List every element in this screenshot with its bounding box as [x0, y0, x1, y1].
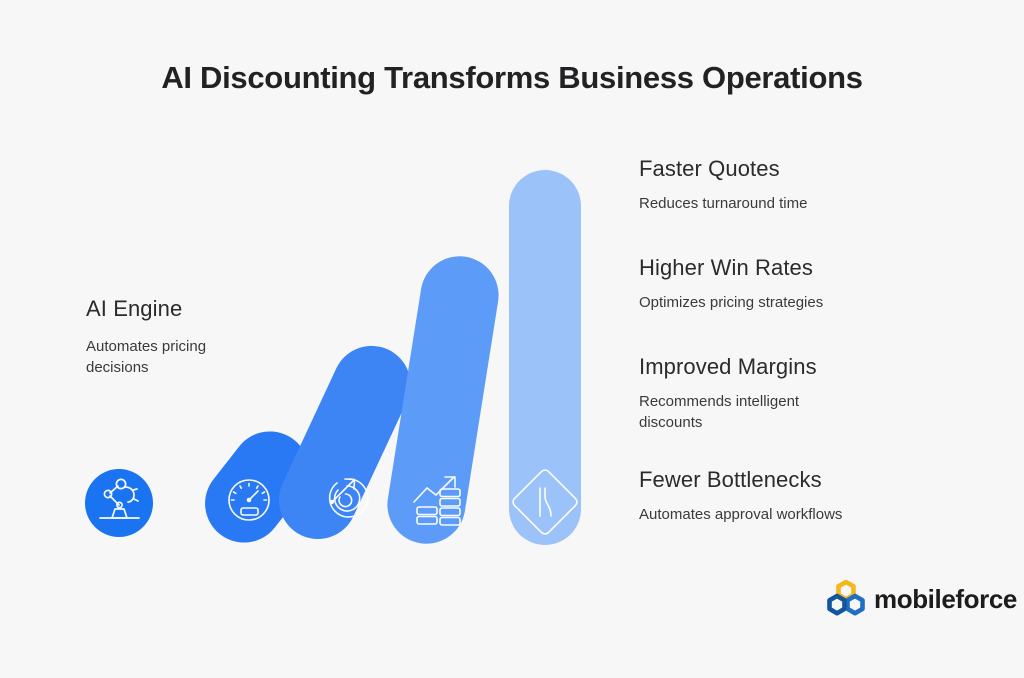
- label-group-ai-engine: AI Engine Automates pricing decisions: [86, 296, 306, 378]
- label-group-fewer-bottlenecks: Fewer Bottlenecks Automates approval wor…: [639, 467, 969, 526]
- label-title-fewer-bottlenecks: Fewer Bottlenecks: [639, 467, 969, 492]
- label-subtitle-higher-win-rates: Optimizes pricing strategies: [639, 293, 879, 313]
- infographic-canvas: AI Discounting Transforms Business Opera…: [0, 0, 1024, 678]
- label-title-higher-win-rates: Higher Win Rates: [639, 255, 969, 280]
- label-group-higher-win-rates: Higher Win Rates Optimizes pricing strat…: [639, 255, 969, 314]
- hexagon-cluster-icon: [826, 580, 866, 618]
- label-title-improved-margins: Improved Margins: [639, 354, 969, 379]
- bar-fewer-bottlenecks[interactable]: [509, 170, 581, 545]
- label-group-faster-quotes: Faster Quotes Reduces turnaround time: [639, 156, 969, 215]
- label-title-faster-quotes: Faster Quotes: [639, 156, 969, 181]
- label-group-improved-margins: Improved Margins Recommends intelligent …: [639, 354, 969, 433]
- label-title-ai-engine: AI Engine: [86, 296, 306, 321]
- label-subtitle-faster-quotes: Reduces turnaround time: [639, 194, 879, 214]
- label-subtitle-ai-engine: Automates pricing decisions: [86, 337, 266, 378]
- label-subtitle-fewer-bottlenecks: Automates approval workflows: [639, 505, 919, 525]
- bar-ai-engine[interactable]: [85, 469, 153, 537]
- brand-logo[interactable]: mobileforce: [826, 580, 1017, 618]
- logo-wordmark: mobileforce: [874, 584, 1017, 615]
- page-title: AI Discounting Transforms Business Opera…: [0, 60, 1024, 96]
- label-subtitle-improved-margins: Recommends intelligent discounts: [639, 392, 864, 433]
